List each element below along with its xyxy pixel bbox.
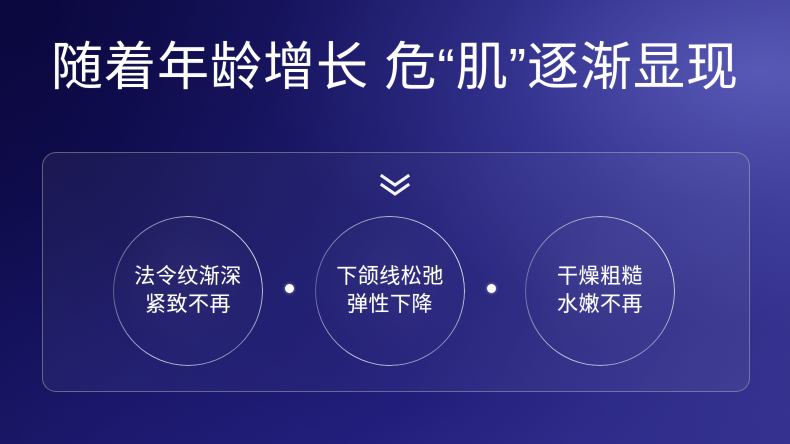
symptom-2-line-1: 下颌线松弛 (336, 263, 444, 291)
page-title: 随着年龄增长 危“肌”逐渐显现 (0, 36, 790, 100)
symptom-circle-2[interactable]: 下颌线松弛 弹性下降 (315, 216, 465, 366)
promo-banner: 随着年龄增长 危“肌”逐渐显现 法令纹渐深 紧致不再 下颌线松弛 弹性下降 干燥… (0, 0, 790, 444)
symptom-circle-1[interactable]: 法令纹渐深 紧致不再 (113, 216, 263, 366)
symptom-3-line-2: 水嫩不再 (557, 291, 643, 319)
dot-separator-2 (487, 284, 496, 293)
symptom-circle-3[interactable]: 干燥粗糙 水嫩不再 (525, 216, 675, 366)
symptom-1-line-2: 紧致不再 (145, 291, 231, 319)
symptom-1-line-1: 法令纹渐深 (134, 263, 242, 291)
dot-separator-1 (285, 284, 294, 293)
symptom-circle-row: 法令纹渐深 紧致不再 下颌线松弛 弹性下降 干燥粗糙 水嫩不再 (42, 152, 750, 392)
symptom-2-line-2: 弹性下降 (347, 291, 433, 319)
symptom-3-line-1: 干燥粗糙 (557, 263, 643, 291)
